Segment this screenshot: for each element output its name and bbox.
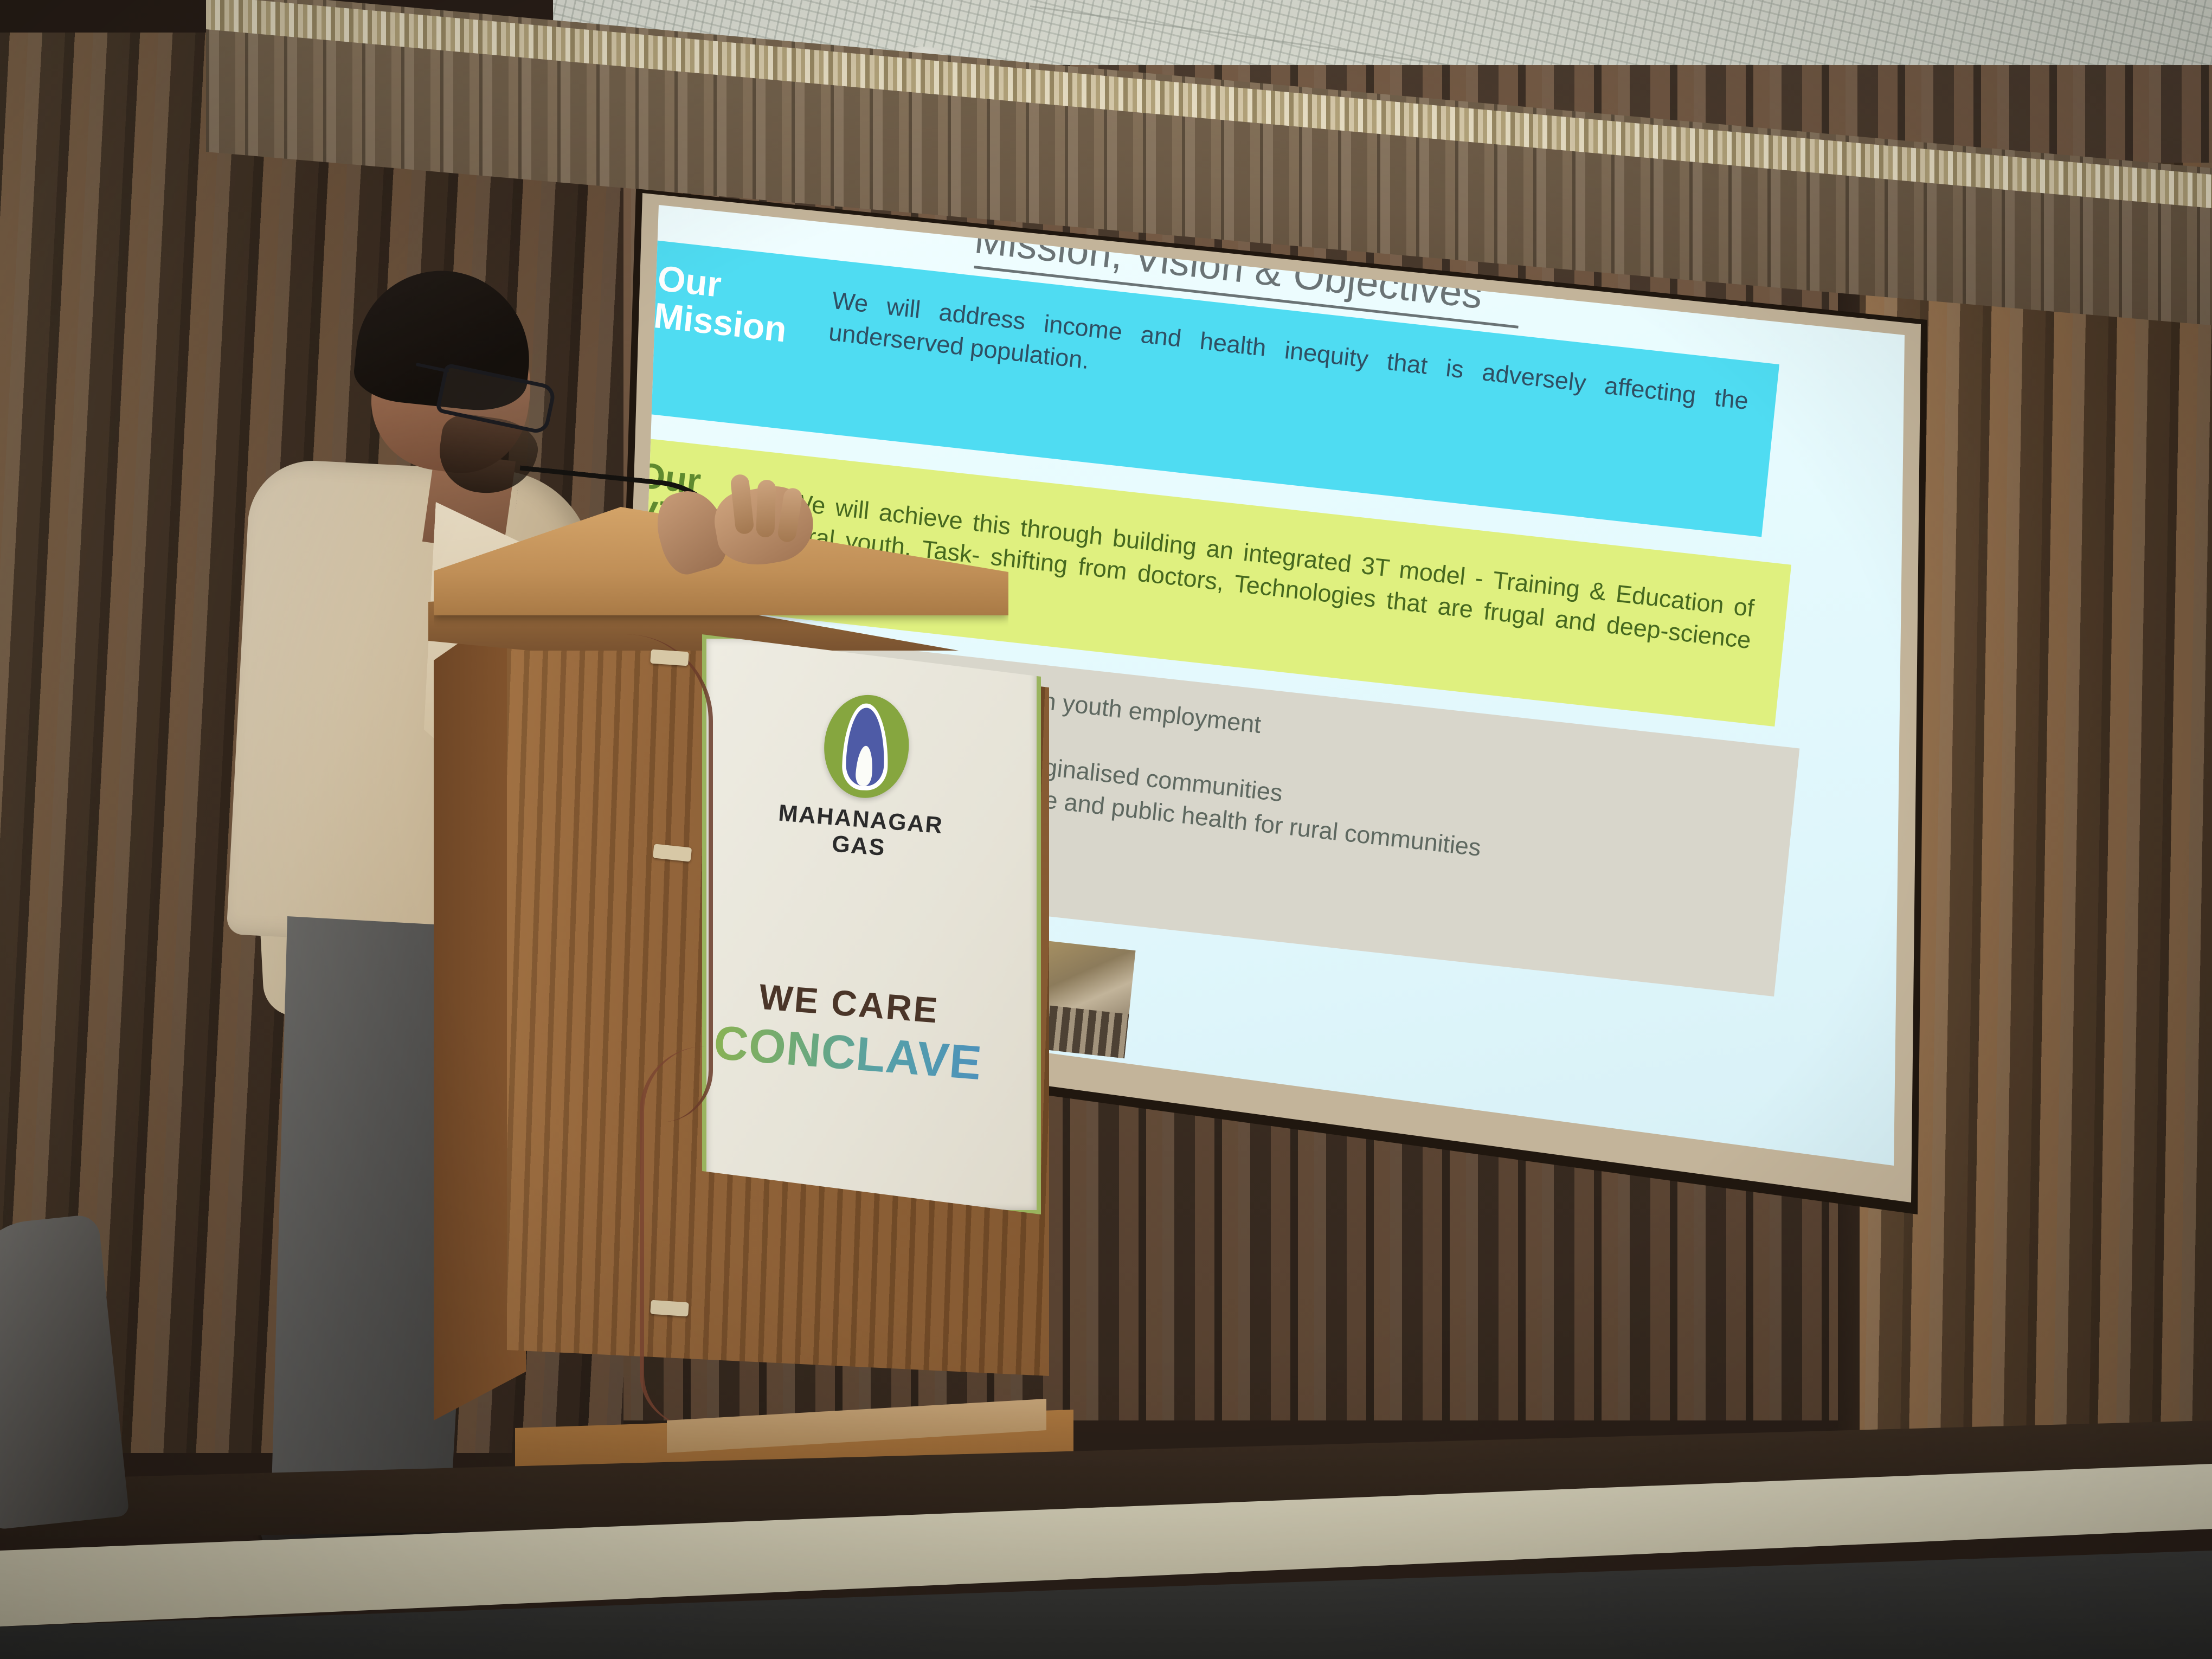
conference-photo-scene: Mission, Vision & Objectives Our Mission… [0, 0, 2212, 1659]
mission-label: Our Mission [652, 259, 792, 349]
podium-branding-plate: MAHANAGAR GAS WE CARE CONCLAVE [702, 634, 1041, 1214]
cable-clip-lower [650, 1300, 689, 1317]
speaker-finger-2 [756, 479, 776, 537]
cable-clip-upper [650, 650, 689, 666]
mission-body-text: We will address income and health inequi… [827, 284, 1750, 449]
podium-cable-lower [640, 1046, 705, 1426]
mahanagar-gas-logo-icon [820, 692, 912, 801]
company-name: MAHANAGAR GAS [749, 798, 970, 869]
